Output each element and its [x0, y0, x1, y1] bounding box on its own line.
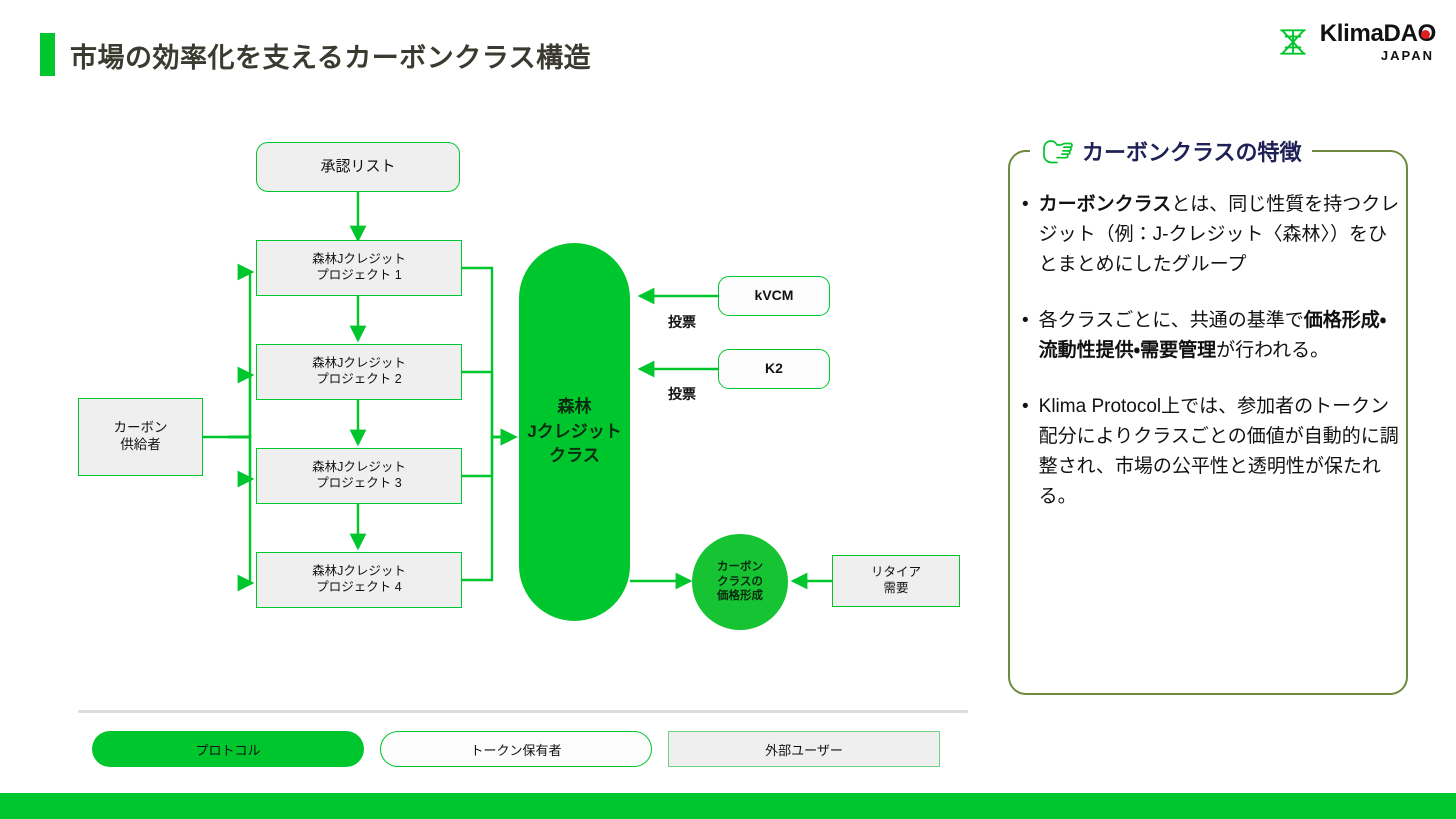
edge-label-vote-k2: 投票 — [668, 384, 696, 404]
node-approval-list-label: 承認リスト — [320, 158, 395, 177]
node-k2[interactable]: K2 — [718, 349, 830, 389]
page-title: 市場の効率化を支えるカーボンクラス構造 — [70, 36, 591, 75]
node-approval-list[interactable]: 承認リスト — [256, 142, 460, 192]
features-panel-title: カーボンクラスの特徴 — [1082, 135, 1302, 167]
slide-canvas: 市場の効率化を支えるカーボンクラス構造 KlimaDAO JAPAN — [0, 0, 1456, 819]
feature-bullet-1-text: カーボンクラスとは、同じ性質を持つクレジット（例：J-クレジット〈森林〉）をひと… — [1039, 190, 1400, 280]
node-project-2-line1: 森林Jクレジット — [312, 356, 406, 372]
node-class-line3: クラス — [549, 444, 600, 469]
node-price-formation-line1: カーボン — [717, 560, 763, 575]
node-forest-jcredit-class[interactable]: 森林 Jクレジット クラス — [519, 243, 630, 621]
feature-bullet-1: • カーボンクラスとは、同じ性質を持つクレジット（例：J-クレジット〈森林〉）を… — [1022, 190, 1400, 280]
feature-bullet-2: • 各クラスごとに、共通の基準で価格形成・流動性提供・需要管理が行われる。 — [1022, 306, 1400, 366]
bullet-marker: • — [1022, 306, 1029, 366]
node-project-3[interactable]: 森林Jクレジット プロジェクト 3 — [256, 448, 462, 504]
legend-item-protocol-label: プロトコル — [195, 740, 260, 759]
features-panel-header: カーボンクラスの特徴 — [1030, 132, 1312, 170]
node-project-2[interactable]: 森林Jクレジット プロジェクト 2 — [256, 344, 462, 400]
node-project-2-line2: プロジェクト 2 — [316, 372, 401, 388]
node-project-4-line2: プロジェクト 4 — [316, 580, 401, 596]
feature-bullet-3-text: Klima Protocol上では、参加者のトークン配分によりクラスごとの価値が… — [1039, 392, 1400, 512]
bullet-marker: • — [1022, 190, 1029, 280]
pointing-hand-icon — [1040, 137, 1074, 165]
node-carbon-supplier[interactable]: カーボン 供給者 — [78, 398, 203, 476]
node-project-3-line2: プロジェクト 3 — [316, 476, 401, 492]
node-kvcm[interactable]: kVCM — [718, 276, 830, 316]
node-project-4[interactable]: 森林Jクレジット プロジェクト 4 — [256, 552, 462, 608]
node-retire-demand-line1: リタイア — [871, 565, 921, 581]
node-kvcm-label: kVCM — [755, 287, 794, 305]
node-retire-demand-line2: 需要 — [883, 581, 908, 597]
logo-name: KlimaDAO — [1320, 22, 1436, 46]
node-project-1-line1: 森林Jクレジット — [312, 252, 406, 268]
legend-item-protocol[interactable]: プロトコル — [92, 731, 364, 767]
bullet-marker: • — [1022, 392, 1029, 512]
legend-divider — [78, 710, 968, 713]
node-price-formation-line3: 価格形成 — [717, 589, 763, 604]
node-project-1[interactable]: 森林Jクレジット プロジェクト 1 — [256, 240, 462, 296]
node-project-1-line2: プロジェクト 1 — [316, 268, 401, 284]
node-price-formation[interactable]: カーボン クラスの 価格形成 — [692, 534, 788, 630]
klimadao-logo: KlimaDAO JAPAN — [1275, 22, 1434, 62]
klimadao-hourglass-icon — [1275, 24, 1311, 60]
diagram-area: 承認リスト カーボン 供給者 森林Jクレジット プロジェクト 1 森林Jクレジッ… — [0, 100, 990, 690]
logo-wordmark: KlimaDAO — [1320, 22, 1434, 46]
node-class-line2: Jクレジット — [527, 420, 621, 445]
legend-item-external-user[interactable]: 外部ユーザー — [668, 731, 940, 767]
node-class-line1: 森林 — [558, 395, 592, 420]
legend-item-external-user-label: 外部ユーザー — [765, 740, 843, 759]
title-accent-bar — [40, 33, 55, 76]
node-price-formation-line2: クラスの — [717, 575, 763, 590]
logo-red-dot-icon — [1421, 30, 1430, 39]
node-carbon-supplier-line1: カーボン — [114, 420, 168, 437]
features-panel-body: • カーボンクラスとは、同じ性質を持つクレジット（例：J-クレジット〈森林〉）を… — [1022, 190, 1400, 538]
edge-label-vote-kvcm: 投票 — [668, 312, 696, 332]
feature-bullet-3: • Klima Protocol上では、参加者のトークン配分によりクラスごとの価… — [1022, 392, 1400, 512]
node-retire-demand[interactable]: リタイア 需要 — [832, 555, 960, 607]
feature-bullet-2-text: 各クラスごとに、共通の基準で価格形成・流動性提供・需要管理が行われる。 — [1039, 306, 1400, 366]
node-carbon-supplier-line2: 供給者 — [120, 437, 161, 454]
legend-item-token-holder[interactable]: トークン保有者 — [380, 731, 652, 767]
legend-item-token-holder-label: トークン保有者 — [470, 740, 561, 759]
logo-subtitle: JAPAN — [1381, 49, 1434, 62]
node-project-3-line1: 森林Jクレジット — [312, 460, 406, 476]
node-k2-label: K2 — [765, 360, 783, 378]
footer-bar — [0, 793, 1456, 819]
node-project-4-line1: 森林Jクレジット — [312, 564, 406, 580]
